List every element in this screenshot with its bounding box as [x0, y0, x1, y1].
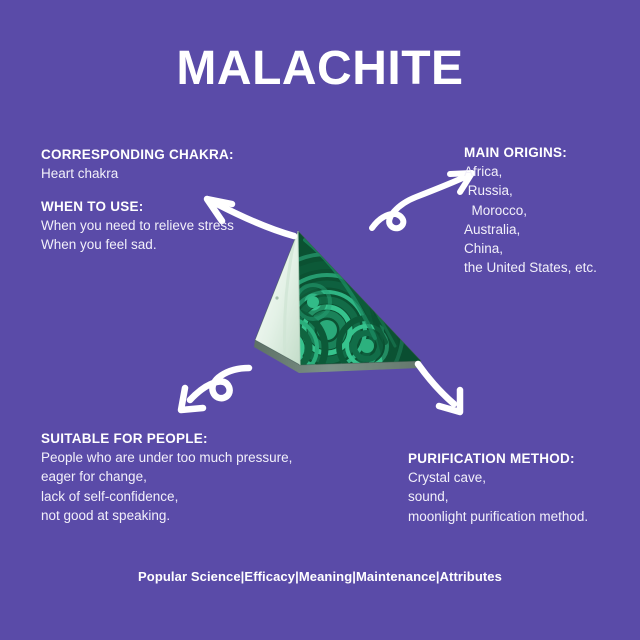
purification-method-line: Crystal cave, [408, 468, 588, 487]
suitable-for-people-line: not good at speaking. [41, 506, 292, 525]
main-origins-line: the United States, etc. [464, 258, 597, 277]
purification-method-block: PURIFICATION METHOD: Crystal cave, sound… [408, 450, 588, 526]
suitable-for-people-line: People who are under too much pressure, [41, 448, 292, 467]
when-to-use-line: When you need to relieve stress [41, 216, 234, 235]
when-to-use-heading: WHEN TO USE: [41, 198, 234, 216]
purification-method-heading: PURIFICATION METHOD: [408, 450, 588, 468]
main-origins-block: MAIN ORIGINS: Africa, Russia, Morocco, A… [464, 144, 597, 277]
arrow-to-purification-method-icon [412, 356, 488, 422]
corresponding-chakra-line: Heart chakra [41, 164, 234, 183]
main-origins-line: Morocco, [464, 201, 597, 220]
arrow-to-suitable-for-people-icon [163, 362, 275, 432]
purification-method-line: moonlight purification method. [408, 507, 588, 526]
main-origins-line: China, [464, 239, 597, 258]
purification-method-line: sound, [408, 487, 588, 506]
when-to-use-line: When you feel sad. [41, 235, 234, 254]
infographic-poster: MALACHITE [0, 0, 640, 640]
malachite-pyramid-figure [243, 222, 433, 382]
suitable-for-people-heading: SUITABLE FOR PEOPLE: [41, 430, 292, 448]
suitable-for-people-line: lack of self-confidence, [41, 487, 292, 506]
suitable-for-people-block: SUITABLE FOR PEOPLE: People who are unde… [41, 430, 292, 525]
corresponding-chakra-block: CORRESPONDING CHAKRA: Heart chakra [41, 146, 234, 183]
suitable-for-people-line: eager for change, [41, 467, 292, 486]
main-origins-line: Africa, [464, 162, 597, 181]
footer-tagline: Popular Science|Efficacy|Meaning|Mainten… [0, 569, 640, 584]
main-origins-line: Australia, [464, 220, 597, 239]
corresponding-chakra-heading: CORRESPONDING CHAKRA: [41, 146, 234, 164]
main-origins-heading: MAIN ORIGINS: [464, 144, 597, 162]
page-title: MALACHITE [0, 44, 640, 94]
when-to-use-block: WHEN TO USE: When you need to relieve st… [41, 198, 234, 255]
main-origins-line: Russia, [464, 181, 597, 200]
